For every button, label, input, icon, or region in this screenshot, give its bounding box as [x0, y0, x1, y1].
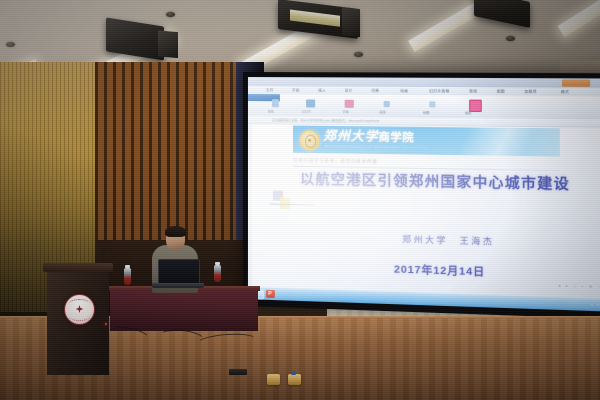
water-bottle-right-cap: [215, 262, 220, 265]
podium-university-emblem: [64, 294, 95, 325]
slide-canvas[interactable]: 郑州大学商学院 Business School of Zhengzhou Uni…: [252, 124, 600, 299]
projection-screen-frame: 文件 开始 插入 设计 切换 动画 幻灯片放映 审阅 视图 加载项 格式 粘贴 …: [243, 72, 600, 319]
podium-indicator-led: [105, 323, 107, 325]
powerpoint-icon[interactable]: [266, 290, 275, 298]
water-bottle-left-cap: [125, 265, 130, 268]
banner-university-name: 郑州大学: [323, 129, 378, 144]
slide-header-banner: 郑州大学商学院 Business School of Zhengzhou Uni…: [293, 126, 560, 157]
laptop-screen: [158, 259, 200, 286]
ribbon-icon-slide[interactable]: [306, 99, 315, 107]
banner-swoosh-decoration: [443, 127, 560, 156]
projected-slide-screen[interactable]: 文件 开始 插入 设计 切换 动画 幻灯片放映 审阅 视图 加载项 格式 粘贴 …: [248, 77, 600, 312]
ribbon-icon-draw[interactable]: [429, 101, 435, 107]
floor-object-left: [267, 374, 280, 385]
menu-item-addins[interactable]: 加载项: [524, 89, 537, 95]
menu-item-design[interactable]: 设计: [345, 88, 353, 94]
menu-item-file[interactable]: 文件: [266, 87, 274, 93]
slide-decoration-squares: [272, 191, 294, 212]
podium-body: [47, 272, 109, 375]
slide-presenter-text: 郑州大学 王海杰: [402, 233, 494, 248]
slide-main-title: 以航空港区引领郑州国家中心城市建设: [300, 171, 600, 194]
floor-object-right: [288, 374, 301, 385]
slide-confidential-note: 仅供内部学习参考，请勿向媒体传播: [293, 158, 378, 165]
speaker-table: [110, 289, 258, 331]
menu-item-insert[interactable]: 插入: [318, 87, 326, 93]
ribbon-label-draw: 绘图: [423, 111, 429, 115]
ribbon-label-paste: 粘贴: [268, 109, 274, 113]
document-title-text: 正在编辑演示文稿 - 郑州大学商学院.pptx [兼容模式] - Microso…: [272, 117, 380, 123]
menu-item-format[interactable]: 格式: [561, 89, 569, 95]
deco-horizontal-bar: [270, 204, 314, 206]
ribbon-label-font: 字体: [343, 110, 349, 114]
banner-title-text: 郑州大学商学院: [323, 129, 414, 145]
menu-item-animations[interactable]: 动画: [400, 88, 408, 94]
menu-item-home[interactable]: 开始: [292, 87, 300, 93]
screenshot-root: 文件 开始 插入 设计 切换 动画 幻灯片放映 审阅 视图 加载项 格式 粘贴 …: [0, 0, 600, 400]
university-seal-icon: [299, 130, 320, 151]
podium: [47, 263, 109, 375]
menu-item-review[interactable]: 审阅: [469, 88, 477, 94]
slide-date-text: 2017年12月14日: [394, 261, 485, 279]
deco-square-red: [279, 191, 283, 196]
menu-item-slideshow[interactable]: 幻灯片放映: [429, 88, 449, 94]
emblem-arc-bottom: [69, 312, 90, 321]
system-tray[interactable]: ▪ ▪ ▪: [591, 302, 600, 308]
ribbon-label-edit: 编辑: [465, 111, 471, 115]
floor-object-right-cap: [291, 371, 296, 375]
ribbon-icon-font[interactable]: [345, 100, 354, 108]
window-tab-accent[interactable]: [562, 79, 590, 86]
water-bottle-left: [124, 268, 131, 285]
banner-school-name: 商学院: [378, 132, 414, 145]
menu-item-view[interactable]: 视图: [497, 88, 505, 94]
ribbon-label-slide: 幻灯片: [302, 109, 311, 113]
menu-item-transitions[interactable]: 切换: [371, 88, 379, 94]
ribbon-label-para: 段落: [379, 110, 385, 114]
podium-top-surface: [43, 263, 113, 272]
slide-divider: [293, 166, 560, 171]
ribbon-icon-paste[interactable]: [272, 99, 279, 107]
floor-adapter-box: [229, 369, 247, 375]
presenter-glasses: [168, 236, 183, 240]
laptop-base: [152, 283, 204, 288]
banner-english-subtitle: Business School of Zhengzhou University: [325, 144, 428, 149]
ribbon-icon-para[interactable]: [384, 101, 390, 107]
water-bottle-right: [214, 265, 221, 282]
